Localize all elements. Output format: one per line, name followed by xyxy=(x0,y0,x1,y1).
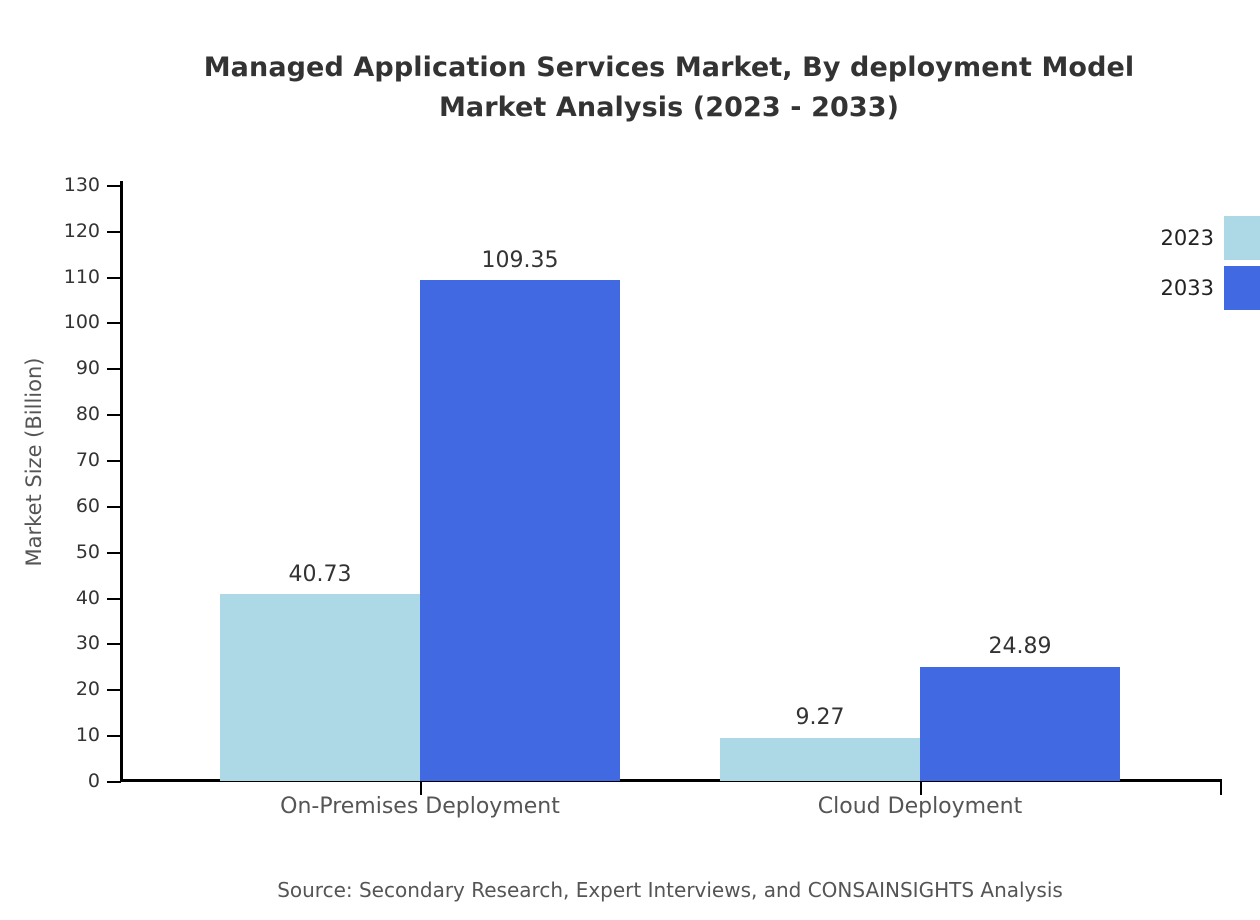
y-tick-120 xyxy=(107,231,121,233)
y-tick-20 xyxy=(107,689,121,691)
y-tick-10 xyxy=(107,735,121,737)
y-tick-100 xyxy=(107,322,121,324)
y-tick-label-40: 40 xyxy=(40,587,100,609)
y-tick-0 xyxy=(107,781,121,783)
bar-value-cloud-2023: 9.27 xyxy=(710,705,930,730)
bar-value-cloud-2033: 24.89 xyxy=(910,634,1130,659)
y-tick-90 xyxy=(107,368,121,370)
y-tick-label-20: 20 xyxy=(40,678,100,700)
bar-cloud-2033[interactable] xyxy=(920,667,1120,781)
chart-title: Managed Application Services Market, By … xyxy=(0,48,1260,128)
legend-swatch-2023-icon xyxy=(1224,216,1260,260)
chart-title-line-1: Managed Application Services Market, By … xyxy=(0,48,1260,88)
y-tick-50 xyxy=(107,552,121,554)
y-tick-label-100: 100 xyxy=(40,311,100,333)
source-note: Source: Secondary Research, Expert Inter… xyxy=(0,878,1260,902)
y-tick-label-50: 50 xyxy=(40,541,100,563)
bar-on-premises-2033[interactable] xyxy=(420,280,620,781)
y-axis-line xyxy=(120,181,123,782)
y-tick-60 xyxy=(107,506,121,508)
legend-label-2023: 2023 xyxy=(1100,226,1214,250)
y-tick-130 xyxy=(107,185,121,187)
y-tick-label-110: 110 xyxy=(40,266,100,288)
y-tick-110 xyxy=(107,277,121,279)
bar-cloud-2023[interactable] xyxy=(720,738,920,781)
bar-value-on-premises-2033: 109.35 xyxy=(410,248,630,273)
bar-chart: Managed Application Services Market, By … xyxy=(0,0,1260,920)
legend-swatch-2033-icon xyxy=(1224,266,1260,310)
x-tick-end xyxy=(1220,782,1222,795)
y-tick-label-30: 30 xyxy=(40,632,100,654)
y-tick-label-60: 60 xyxy=(40,495,100,517)
y-tick-30 xyxy=(107,643,121,645)
y-tick-40 xyxy=(107,598,121,600)
y-tick-label-130: 130 xyxy=(40,174,100,196)
chart-title-line-2: Market Analysis (2023 - 2033) xyxy=(0,88,1260,128)
x-axis-label-on-premises: On-Premises Deployment xyxy=(190,794,650,819)
y-tick-label-10: 10 xyxy=(40,724,100,746)
y-tick-70 xyxy=(107,460,121,462)
x-axis-label-cloud: Cloud Deployment xyxy=(690,794,1150,819)
y-tick-label-90: 90 xyxy=(40,357,100,379)
y-tick-80 xyxy=(107,414,121,416)
y-tick-label-70: 70 xyxy=(40,449,100,471)
bar-on-premises-2023[interactable] xyxy=(220,594,420,781)
y-tick-label-0: 0 xyxy=(40,770,100,792)
y-tick-label-80: 80 xyxy=(40,403,100,425)
y-tick-label-120: 120 xyxy=(40,220,100,242)
legend-label-2033: 2033 xyxy=(1100,276,1214,300)
bar-value-on-premises-2023: 40.73 xyxy=(210,562,430,587)
